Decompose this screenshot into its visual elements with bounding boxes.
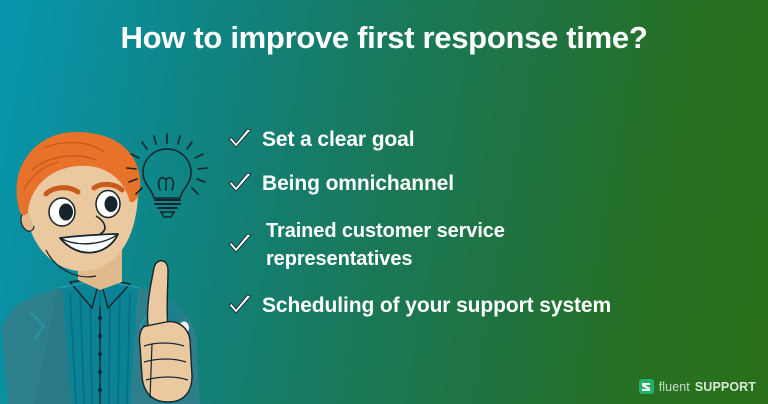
list-item[interactable]: Set a clear goal xyxy=(218,118,748,162)
list-item-label-wrap: Trained customer service representatives xyxy=(262,217,505,274)
illustration-man-pointing-up xyxy=(0,130,215,404)
check-icon xyxy=(218,164,262,204)
fluent-support-logo[interactable]: fluent SUPPORT xyxy=(639,379,756,394)
check-icon xyxy=(218,225,262,265)
list-item[interactable]: Trained customer service representatives xyxy=(218,206,748,284)
logo-name-bold: SUPPORT xyxy=(695,380,756,394)
list-item[interactable]: Scheduling of your support system xyxy=(218,284,748,328)
list-item-label: Scheduling of your support system xyxy=(262,291,611,321)
list-item-label: Being omnichannel xyxy=(262,169,454,199)
benefits-list: Set a clear goal Being omnichannel Train… xyxy=(218,118,748,328)
check-icon xyxy=(218,120,262,160)
fluent-support-mark-icon xyxy=(639,379,654,394)
logo-name-light: fluent xyxy=(659,380,690,394)
slide-canvas: How to improve first response time? xyxy=(0,0,768,404)
pointing-hand xyxy=(139,261,192,402)
list-item-label: Set a clear goal xyxy=(262,125,414,155)
page-title: How to improve first response time? xyxy=(0,20,768,56)
check-icon xyxy=(218,286,262,326)
list-item-label: Trained customer service xyxy=(266,220,505,242)
list-item[interactable]: Being omnichannel xyxy=(218,162,748,206)
list-item-label-line2: representatives xyxy=(266,245,505,273)
